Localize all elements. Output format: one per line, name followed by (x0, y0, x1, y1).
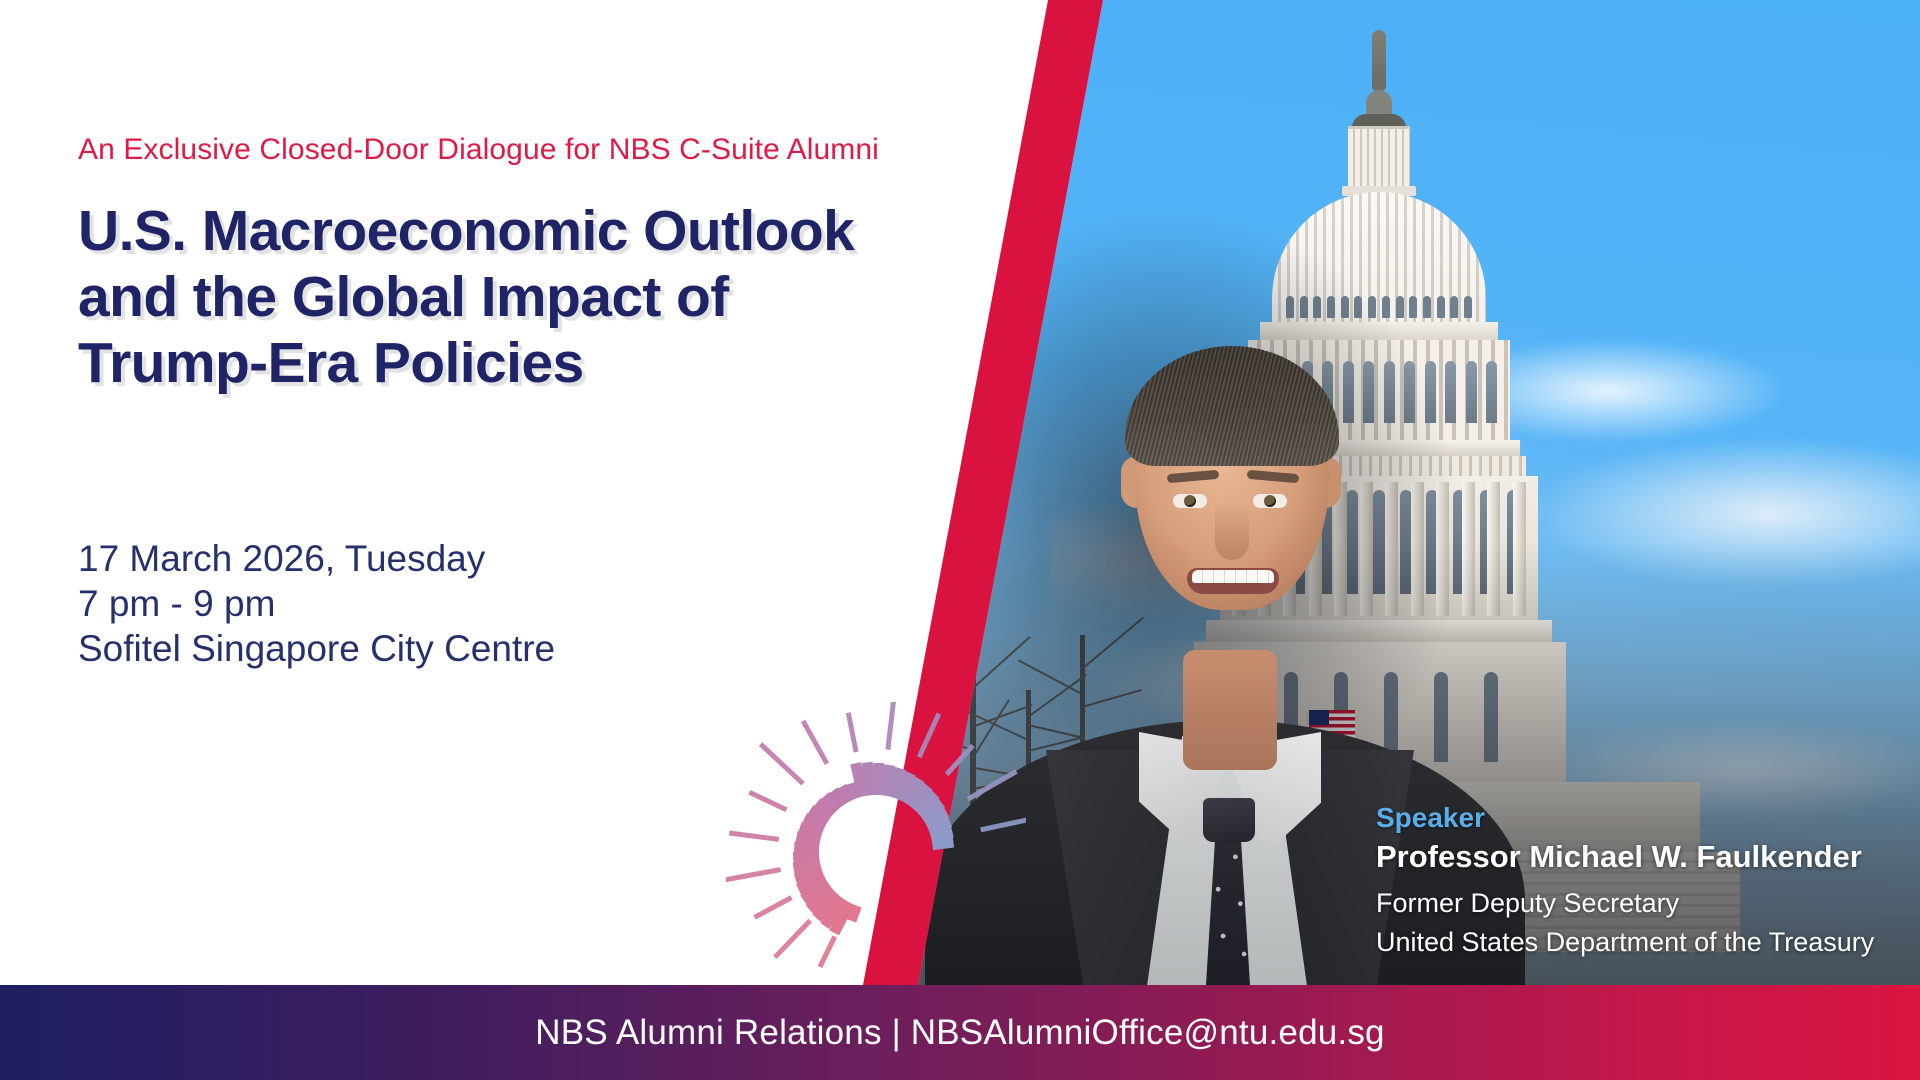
headline-line-2: and the Global Impact of (78, 264, 1038, 330)
left-content-column: An Exclusive Closed-Door Dialogue for NB… (0, 0, 1060, 985)
event-headline: U.S. Macroeconomic Outlook and the Globa… (78, 198, 1038, 396)
nose (1215, 504, 1249, 560)
event-venue: Sofitel Singapore City Centre (78, 626, 555, 671)
hair (1125, 346, 1339, 466)
eye-left (1173, 494, 1207, 508)
headline-line-3: Trump-Era Policies (78, 330, 1038, 396)
neck (1183, 650, 1277, 770)
headline-line-1: U.S. Macroeconomic Outlook (78, 198, 1038, 264)
speaker-name: Professor Michael W. Faulkender (1376, 837, 1896, 877)
dome-lantern (1348, 126, 1410, 191)
speaker-label: Speaker (1376, 800, 1896, 835)
footer-contact-text: NBS Alumni Relations | NBSAlumniOffice@n… (535, 1013, 1384, 1053)
event-date: 17 March 2026, Tuesday (78, 536, 555, 581)
sunburst-ray-graphic (726, 702, 1026, 1002)
event-time: 7 pm - 9 pm (78, 581, 555, 626)
eye-right (1253, 494, 1287, 508)
event-poster: Speaker Professor Michael W. Faulkender … (0, 0, 1920, 1080)
footer-bar: NBS Alumni Relations | NBSAlumniOffice@n… (0, 985, 1920, 1080)
necktie-knot (1203, 798, 1255, 842)
teeth (1192, 570, 1274, 583)
event-kicker: An Exclusive Closed-Door Dialogue for NB… (78, 133, 879, 167)
statue-of-freedom (1372, 30, 1386, 90)
statue-pedestal (1366, 90, 1392, 116)
mouth (1187, 568, 1279, 594)
speaker-title: Former Deputy Secretary (1376, 884, 1896, 922)
event-details: 17 March 2026, Tuesday 7 pm - 9 pm Sofit… (78, 536, 555, 671)
speaker-info-block: Speaker Professor Michael W. Faulkender … (1376, 800, 1896, 961)
speaker-organisation: United States Department of the Treasury (1376, 923, 1896, 961)
